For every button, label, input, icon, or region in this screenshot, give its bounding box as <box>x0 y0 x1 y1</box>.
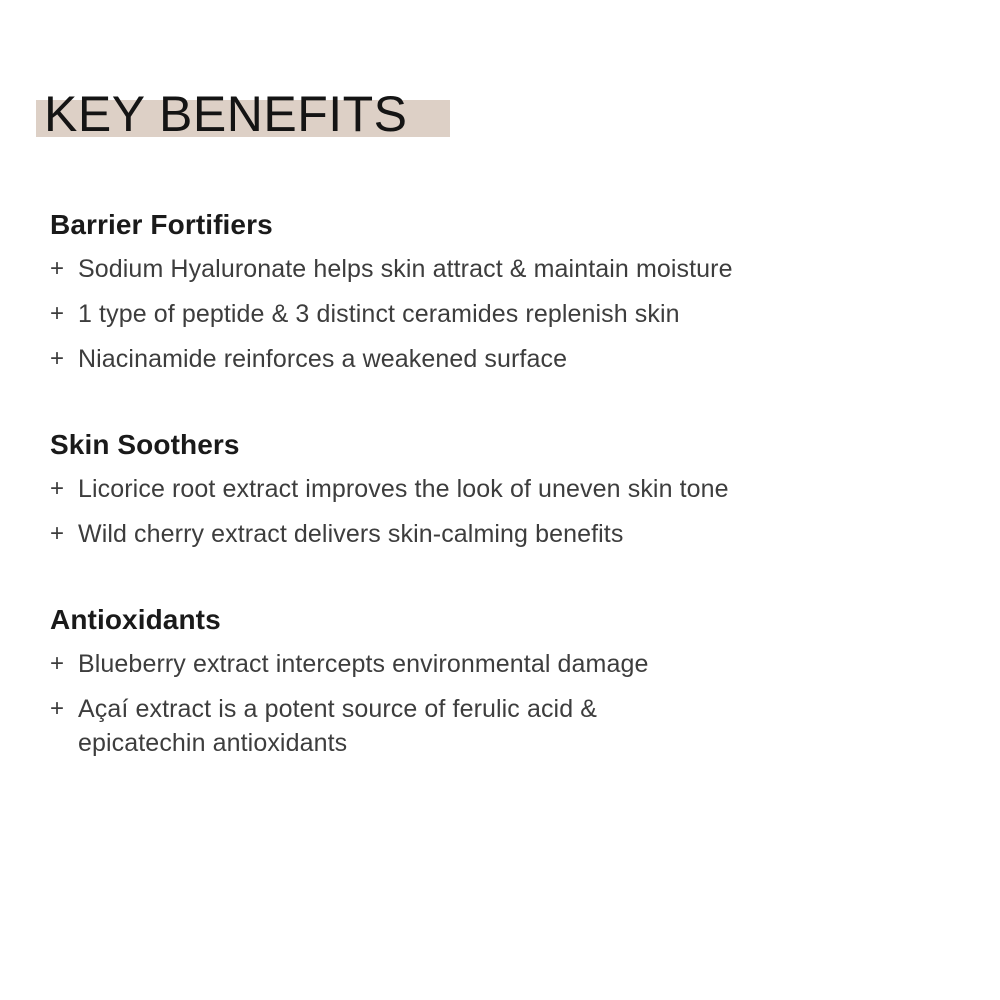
list-item: + Sodium Hyaluronate helps skin attract … <box>50 252 950 286</box>
plus-icon: + <box>50 297 78 331</box>
bullet-text: Niacinamide reinforces a weakened surfac… <box>78 342 950 376</box>
bullet-list: + Blueberry extract intercepts environme… <box>50 647 950 760</box>
plus-icon: + <box>50 342 78 376</box>
benefits-sections: Barrier Fortifiers + Sodium Hyaluronate … <box>50 208 950 760</box>
bullet-text: Licorice root extract improves the look … <box>78 472 950 506</box>
benefit-section: Antioxidants + Blueberry extract interce… <box>50 603 950 760</box>
plus-icon: + <box>50 472 78 506</box>
bullet-text: Wild cherry extract delivers skin-calmin… <box>78 517 950 551</box>
page-title: KEY BENEFITS <box>36 88 408 140</box>
list-item: + 1 type of peptide & 3 distinct ceramid… <box>50 297 950 331</box>
plus-icon: + <box>50 517 78 551</box>
bullet-text: Sodium Hyaluronate helps skin attract & … <box>78 252 950 286</box>
bullet-list: + Sodium Hyaluronate helps skin attract … <box>50 252 950 376</box>
key-benefits-page: KEY BENEFITS Barrier Fortifiers + Sodium… <box>0 0 1000 1000</box>
bullet-text: 1 type of peptide & 3 distinct ceramides… <box>78 297 950 331</box>
benefit-section: Barrier Fortifiers + Sodium Hyaluronate … <box>50 208 950 376</box>
section-heading: Antioxidants <box>50 603 950 637</box>
list-item: + Licorice root extract improves the loo… <box>50 472 950 506</box>
plus-icon: + <box>50 692 78 726</box>
list-item: + Blueberry extract intercepts environme… <box>50 647 950 681</box>
section-heading: Barrier Fortifiers <box>50 208 950 242</box>
bullet-list: + Licorice root extract improves the loo… <box>50 472 950 551</box>
list-item: + Wild cherry extract delivers skin-calm… <box>50 517 950 551</box>
benefit-section: Skin Soothers + Licorice root extract im… <box>50 428 950 551</box>
section-heading: Skin Soothers <box>50 428 950 462</box>
list-item: + Niacinamide reinforces a weakened surf… <box>50 342 950 376</box>
page-title-text: KEY BENEFITS <box>36 88 408 140</box>
bullet-text: Blueberry extract intercepts environment… <box>78 647 950 681</box>
plus-icon: + <box>50 252 78 286</box>
list-item: + Açaí extract is a potent source of fer… <box>50 692 950 760</box>
bullet-text: Açaí extract is a potent source of ferul… <box>78 692 718 760</box>
plus-icon: + <box>50 647 78 681</box>
